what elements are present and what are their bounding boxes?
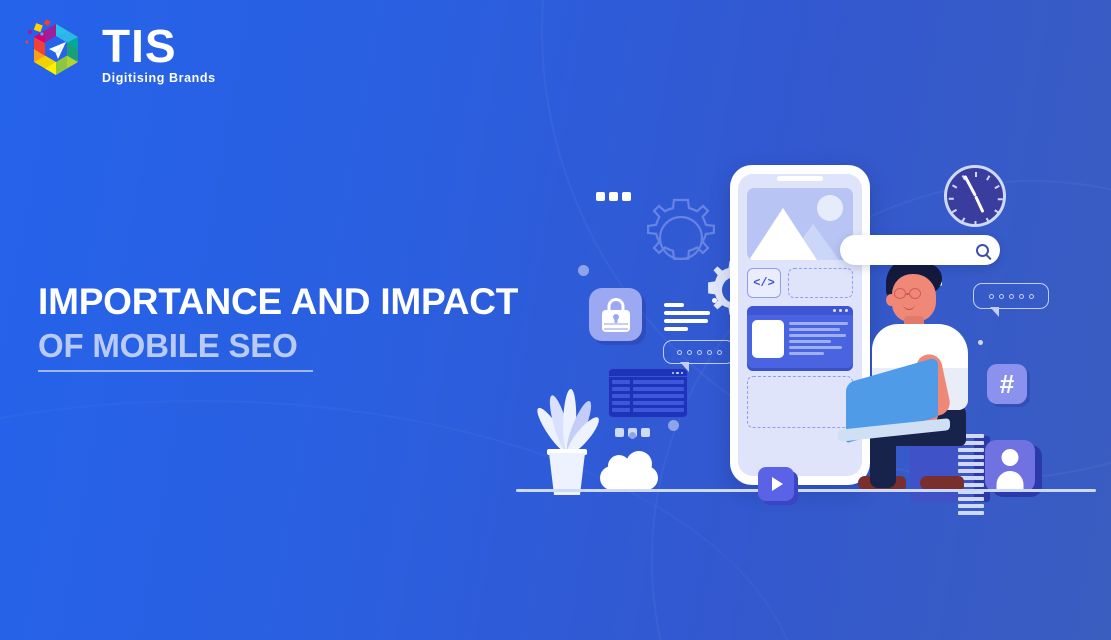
hero-banner: TIS Digitising Brands IMPORTANCE AND IMP…: [0, 0, 1111, 640]
browser-row: [612, 401, 684, 405]
brand-name: TIS: [102, 25, 216, 69]
image-placeholder: [747, 188, 853, 260]
decor-dot-3: [629, 432, 636, 439]
browser-dots: [672, 372, 684, 375]
browser-rows: [609, 377, 687, 415]
brand-tagline: Digitising Brands: [102, 71, 216, 85]
glasses-left-lens: [894, 288, 906, 299]
mobile-seo-hero-illustration: </>: [500, 140, 1111, 520]
content-card-body: [747, 315, 853, 363]
headline-line-2: OF MOBILE SEO: [38, 328, 298, 365]
decor-dot-1: [578, 265, 589, 276]
clock-hand-minute: [963, 175, 976, 196]
browser-row: [612, 380, 684, 384]
lock-keyhole: [613, 314, 619, 320]
dashed-placeholder-large: [747, 376, 853, 428]
brand-wordmark: TIS Digitising Brands: [102, 23, 216, 86]
stripe-decor: [958, 434, 984, 515]
decor-dot-11: [712, 298, 717, 303]
content-card-dots: [833, 309, 848, 312]
clock-hand-hour: [974, 195, 984, 213]
content-card-titlebar: [747, 306, 853, 315]
search-bar[interactable]: [840, 235, 1000, 265]
phone-row-code: </>: [747, 268, 853, 298]
headline-line-1: IMPORTANCE AND IMPACT: [38, 282, 518, 322]
lock-stripe-1: [604, 323, 628, 325]
play-triangle: [772, 477, 783, 491]
speech-bubble-icon-left: [663, 340, 735, 364]
browser-row: [612, 408, 684, 412]
play-icon[interactable]: [758, 467, 794, 501]
ground-line: [516, 489, 1096, 492]
plant-icon: [532, 390, 602, 495]
content-card: [747, 306, 853, 368]
glasses-right-lens: [909, 288, 921, 299]
decor-dot-4: [668, 420, 679, 431]
glasses-bridge: [906, 293, 910, 295]
browser-row: [612, 394, 684, 398]
mountain-front: [749, 208, 817, 260]
phone-notch: [777, 176, 823, 181]
lock-stripe-2: [604, 328, 628, 330]
lock-body: [602, 310, 630, 332]
sun-shape: [817, 195, 843, 221]
lock-icon: [589, 288, 642, 341]
browser-window-dark: [608, 368, 688, 418]
shoe-right: [920, 476, 964, 490]
brand-logo[interactable]: TIS Digitising Brands: [22, 18, 216, 90]
hashtag-icon[interactable]: #: [987, 364, 1027, 404]
dashed-placeholder: [788, 268, 853, 298]
user-avatar-icon[interactable]: [985, 440, 1035, 492]
cloud-icon: [600, 466, 658, 490]
clock-icon: [944, 165, 1006, 227]
headline-underline: [38, 370, 313, 372]
page-title: IMPORTANCE AND IMPACT OF MOBILE SEO: [38, 282, 518, 372]
browser-row: [612, 387, 684, 391]
content-card-thumbnail: [752, 320, 784, 358]
avatar-head: [1002, 449, 1019, 466]
decor-squares-top: [596, 192, 631, 201]
search-icon[interactable]: [976, 244, 989, 257]
hexagon-paper-plane-logo: [22, 18, 90, 90]
text-lines-cluster-left: [664, 303, 712, 335]
content-card-lines: [789, 320, 848, 358]
code-icon[interactable]: </>: [747, 268, 781, 298]
browser-titlebar: [609, 369, 687, 377]
